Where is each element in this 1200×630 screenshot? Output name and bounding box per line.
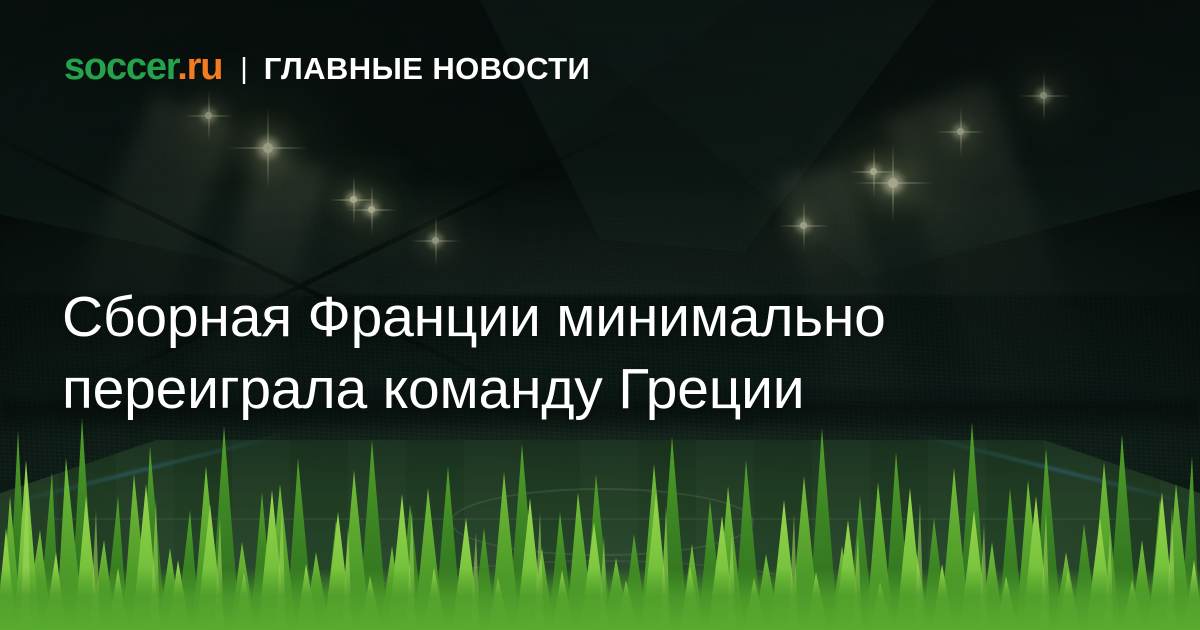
floodlight-icon: [205, 112, 212, 119]
pitch-markings: [0, 440, 1200, 630]
pitch-centre-circle: [450, 488, 754, 556]
floodlight-icon: [888, 178, 898, 188]
grass-foreground: [0, 400, 1200, 630]
logo-text-tld: .ru: [177, 46, 222, 88]
floodlight-icon: [1040, 92, 1047, 99]
page-title: Сборная Франции минимально переиграла ко…: [62, 282, 1062, 426]
soccer-ru-logo[interactable]: soccer.ru: [64, 48, 222, 86]
pitch-mow-stripes: [0, 440, 1200, 630]
floodlight-icon: [800, 222, 807, 229]
pitch-halfway-line: [48, 518, 1152, 520]
floodlight-icon: [957, 128, 964, 135]
logo-text-main: soccer: [64, 46, 177, 88]
header-separator: |: [222, 55, 264, 84]
floodlight-icon: [263, 143, 273, 153]
floodlight-icon: [870, 168, 877, 175]
site-header: soccer.ru | ГЛАВНЫЕ НОВОСТИ: [64, 48, 590, 86]
pitch-penalty-arc: [320, 560, 884, 630]
floodlight-icon: [350, 196, 357, 203]
pitch-perimeter-boards: [0, 438, 1200, 628]
news-card: soccer.ru | ГЛАВНЫЕ НОВОСТИ Сборная Фран…: [0, 0, 1200, 630]
header-kicker-label: ГЛАВНЫЕ НОВОСТИ: [264, 53, 590, 84]
football-pitch: [0, 440, 1200, 630]
floodlight-icon: [368, 206, 375, 213]
floodlight-icon: [432, 237, 439, 244]
